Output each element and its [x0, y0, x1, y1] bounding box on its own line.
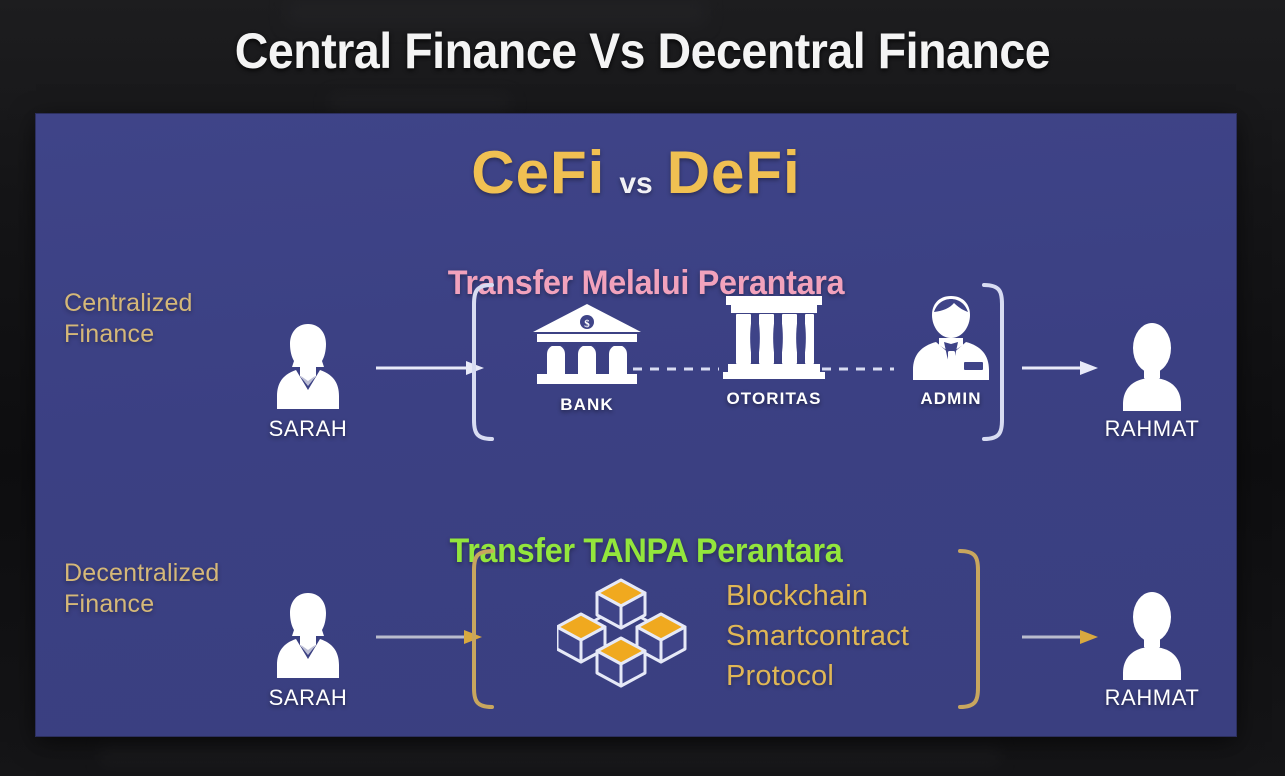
- row-decentralized-finance: Decentralized Finance Transfer TANPA Per…: [36, 514, 1236, 729]
- bank-building-icon-svg: $: [531, 302, 643, 388]
- person-receiver-rahmat-cefi: RAHMAT: [1092, 320, 1212, 442]
- male-avatar-icon: [1092, 320, 1212, 412]
- bracket-left-cefi: [462, 282, 496, 447]
- row-centralized-finance: Centralized Finance Transfer Melalui Per…: [36, 264, 1236, 494]
- arrow-right-icon: [1022, 629, 1098, 645]
- screenshot-root: Central Finance Vs Decentral Finance CeF…: [0, 0, 1285, 776]
- female-avatar-icon: [248, 320, 368, 412]
- blockchain-cubes-icon-svg: [557, 576, 705, 692]
- male-avatar-icon: [1092, 589, 1212, 681]
- node-label-otoritas: OTORITAS: [699, 389, 849, 409]
- slide-panel: CeFivsDeFi Centralized Finance Transfer …: [36, 114, 1236, 736]
- row-label-decentralized: Decentralized Finance: [64, 558, 219, 620]
- arrow-intermediaries-to-rahmat: [1022, 360, 1098, 376]
- heading-cefi: CeFi: [471, 139, 605, 206]
- female-avatar-icon-svg: [272, 589, 344, 681]
- svg-text:$: $: [584, 318, 590, 330]
- background-smudge: [100, 745, 1000, 765]
- bracket-left-icon: [462, 548, 496, 710]
- person-sender-sarah-cefi: SARAH: [248, 320, 368, 442]
- row-label-line2: Finance: [64, 319, 193, 350]
- row-label-line2: Finance: [64, 589, 219, 620]
- blockchain-line-3: Protocol: [726, 656, 909, 696]
- male-avatar-icon-svg: [1116, 320, 1188, 412]
- bank-building-icon: $: [512, 302, 662, 388]
- female-avatar-icon: [248, 589, 368, 681]
- female-avatar-icon-svg: [272, 320, 344, 412]
- person-sender-sarah-defi: SARAH: [248, 589, 368, 711]
- blockchain-text-block: Blockchain Smartcontract Protocol: [726, 576, 909, 696]
- blockchain-cubes-icon: [557, 576, 705, 697]
- heading-defi: DeFi: [667, 139, 801, 206]
- person-name-sarah: SARAH: [248, 685, 368, 711]
- bracket-right-icon: [956, 548, 990, 710]
- arrow-right-icon: [1022, 360, 1098, 376]
- bracket-left-icon: [462, 282, 496, 442]
- row-label-centralized: Centralized Finance: [64, 288, 193, 350]
- bracket-right-cefi: [980, 282, 1014, 447]
- person-receiver-rahmat-defi: RAHMAT: [1092, 589, 1212, 711]
- bracket-right-defi: [956, 548, 990, 715]
- heading-vs: vs: [619, 167, 652, 200]
- node-otoritas: OTORITAS: [699, 296, 849, 409]
- bracket-left-defi: [462, 548, 496, 715]
- blockchain-line-1: Blockchain: [726, 576, 909, 616]
- row-label-line1: Decentralized: [64, 558, 219, 589]
- person-name-rahmat: RAHMAT: [1092, 685, 1212, 711]
- blockchain-line-2: Smartcontract: [726, 616, 909, 656]
- slide-heading: CeFivsDeFi: [36, 138, 1236, 207]
- classical-temple-icon-svg: [718, 292, 830, 382]
- page-title: Central Finance Vs Decentral Finance: [45, 22, 1240, 80]
- banner-transfer-tanpa-perantara: Transfer TANPA Perantara: [352, 532, 941, 571]
- bracket-right-icon: [980, 282, 1014, 442]
- cube-top: [597, 580, 645, 628]
- person-name-sarah: SARAH: [248, 416, 368, 442]
- arrow-blockchain-to-rahmat: [1022, 629, 1098, 645]
- person-name-rahmat: RAHMAT: [1092, 416, 1212, 442]
- banner-transfer-melalui-perantara: Transfer Melalui Perantara: [352, 264, 941, 303]
- node-label-bank: BANK: [512, 395, 662, 415]
- background-smudge: [330, 96, 510, 110]
- row-label-line1: Centralized: [64, 288, 193, 319]
- male-avatar-icon-svg: [1116, 589, 1188, 681]
